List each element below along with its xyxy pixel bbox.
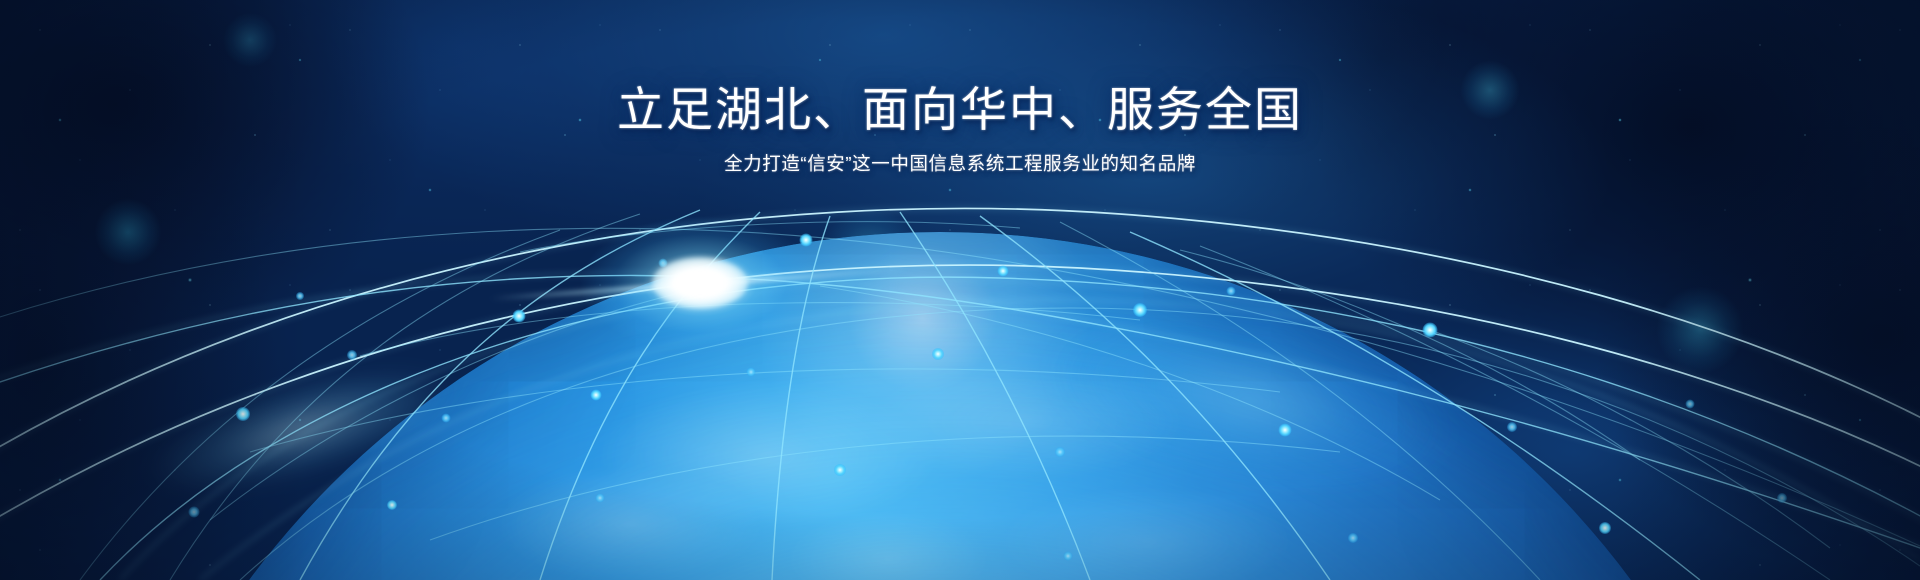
banner-copy: 立足湖北、面向华中、服务全国 全力打造“信安”这一中国信息系统工程服务业的知名品… xyxy=(0,82,1920,177)
hero-banner: 立足湖北、面向华中、服务全国 全力打造“信安”这一中国信息系统工程服务业的知名品… xyxy=(0,0,1920,580)
banner-subheadline: 全力打造“信安”这一中国信息系统工程服务业的知名品牌 xyxy=(0,151,1920,177)
banner-headline: 立足湖北、面向华中、服务全国 xyxy=(0,82,1920,137)
